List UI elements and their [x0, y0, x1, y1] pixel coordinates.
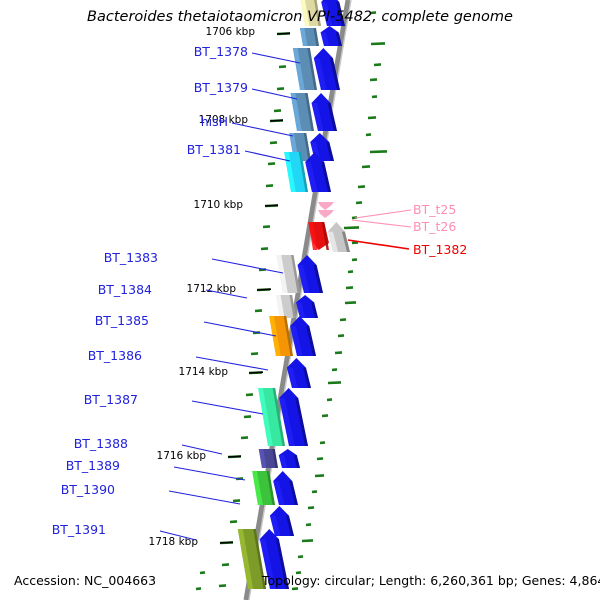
gc-dash — [306, 524, 311, 525]
ruler-tick-mark — [265, 205, 278, 206]
gc-dash — [277, 88, 284, 89]
feature-layer[interactable] — [238, 0, 350, 589]
gc-dash — [196, 588, 201, 589]
gc-dash — [371, 43, 385, 44]
gene-label-bt_t26[interactable]: BT_t26 — [352, 219, 456, 234]
gc-dash — [200, 572, 205, 573]
gc-dash — [261, 248, 268, 249]
gene-label-text[interactable]: BT_1389 — [66, 458, 120, 473]
label-leader-line — [192, 401, 263, 414]
feature-box-1378[interactable] — [293, 48, 317, 90]
feature-arrow-1388[interactable] — [279, 449, 300, 468]
gc-dash — [279, 66, 286, 67]
gene-label-text[interactable]: BT_1387 — [84, 392, 138, 407]
gc-dash — [352, 259, 357, 260]
gc-dash — [255, 310, 262, 311]
accession-text: Accession: NC_004663 — [14, 573, 156, 588]
label-leader-line — [232, 123, 293, 136]
ruler-tick-mark — [277, 33, 290, 34]
gc-dash — [327, 399, 332, 400]
gc-dash — [219, 585, 226, 586]
label-leader-line — [252, 53, 300, 63]
label-leader-line — [169, 491, 240, 504]
gc-dash — [251, 353, 258, 354]
gc-dash — [346, 287, 353, 288]
gene-label-bt_1389[interactable]: BT_1389 — [66, 458, 245, 480]
gc-dash — [345, 302, 356, 303]
feature-trna-t25[interactable] — [318, 202, 334, 210]
gene-label-text[interactable]: BT_1385 — [95, 313, 149, 328]
gc-dash — [370, 151, 387, 152]
feature-box-1385[interactable] — [269, 316, 293, 356]
gene-label-bt_1382[interactable]: BT_1382 — [348, 240, 467, 257]
gc-dash — [312, 491, 317, 492]
gene-label-bt_1387[interactable]: BT_1387 — [84, 392, 263, 414]
feature-box-1388[interactable] — [259, 449, 278, 468]
gc-dash — [372, 96, 377, 97]
feature-trna-t26[interactable] — [318, 210, 334, 218]
label-leader-line — [252, 89, 297, 99]
label-leader-line — [212, 259, 283, 273]
ruler-tick-label: 1706 kbp — [206, 26, 256, 38]
gene-label-bt_1385[interactable]: BT_1385 — [95, 313, 276, 336]
feature-arrow-1389[interactable] — [273, 471, 298, 505]
gc-dash — [320, 442, 325, 443]
label-leader-line — [348, 240, 409, 249]
gene-label-bt_1383[interactable]: BT_1383 — [104, 250, 283, 273]
ruler-tick-mark — [228, 456, 241, 457]
gene-label-text[interactable]: BT_1381 — [187, 142, 241, 157]
gc-dash — [308, 507, 314, 508]
label-leader-line — [204, 322, 276, 336]
gene-label-bt_1390[interactable]: BT_1390 — [61, 482, 240, 504]
gc-dash — [332, 369, 337, 370]
gc-dash — [374, 64, 381, 65]
gc-dash — [335, 352, 342, 353]
feature-box-1382[interactable] — [308, 222, 329, 250]
ruler-tick-mark — [220, 542, 233, 543]
gene-label-text[interactable]: BT_1390 — [61, 482, 115, 497]
gene-label-bt_1381[interactable]: BT_1381 — [187, 142, 290, 161]
gc-dash — [244, 416, 251, 417]
gene-label-text[interactable]: BT_1388 — [74, 436, 128, 451]
genome-stats-text: Topology: circular; Length: 6,260,361 bp… — [261, 573, 600, 588]
gc-dash — [302, 540, 313, 541]
feature-arrow-1386[interactable] — [287, 358, 311, 388]
gc-dash — [266, 185, 273, 186]
gc-dash — [358, 186, 365, 187]
gc-dash — [246, 394, 253, 395]
genome-map-viewer[interactable]: 1706 kbp1708 kbp1710 kbp1712 kbp1714 kbp… — [0, 0, 600, 600]
feature-box-1383[interactable] — [277, 255, 300, 293]
feature-box-1389[interactable] — [252, 471, 275, 505]
feature-box-1384[interactable] — [276, 295, 296, 318]
gene-label-text[interactable]: BT_1379 — [194, 80, 248, 95]
gc-dash — [263, 226, 270, 227]
ruler-tick-mark — [257, 289, 271, 290]
ruler-tick-label: 1712 kbp — [187, 283, 237, 295]
gene-label-text[interactable]: BT_1378 — [194, 44, 248, 59]
label-leader-line — [355, 210, 411, 218]
gc-dash — [315, 475, 324, 476]
page-title: Bacteroides thetaiotaomicron VPI-5482, c… — [87, 9, 513, 25]
feature-arrow-1382[interactable] — [328, 222, 350, 252]
gene-label-bt_1378[interactable]: BT_1378 — [194, 44, 300, 63]
gc-dash — [233, 500, 240, 501]
gc-dash — [362, 166, 370, 167]
feature-box-1377[interactable] — [300, 28, 319, 46]
gc-dash — [270, 142, 277, 143]
ruler-tick-label: 1710 kbp — [194, 199, 244, 211]
gene-label-text[interactable]: BT_t26 — [413, 219, 456, 234]
gc-dash — [368, 117, 376, 118]
ruler-tick-label: 1714 kbp — [179, 366, 229, 378]
gc-dash — [292, 588, 298, 589]
gc-dash — [241, 437, 248, 438]
gc-dash — [298, 556, 303, 557]
gene-label-text[interactable]: BT_1383 — [104, 250, 158, 265]
gene-label-text[interactable]: BT_1382 — [413, 242, 467, 257]
gc-dash — [370, 79, 377, 80]
feature-arrow-1385[interactable] — [290, 316, 316, 356]
ruler-tick-0: 1706 kbp — [206, 26, 290, 38]
gc-dash — [268, 163, 275, 164]
gene-label-text[interactable]: BT_1384 — [98, 282, 152, 297]
gene-label-layer[interactable]: BT_1378BT_1379hisHBT_1381BT_t25BT_t26BT_… — [52, 44, 468, 540]
label-leader-line — [174, 467, 245, 480]
feature-arrow-1390[interactable] — [270, 506, 294, 536]
gene-label-text[interactable]: hisH — [201, 114, 228, 129]
gene-label-text[interactable]: BT_1386 — [88, 348, 142, 363]
gc-dash — [366, 134, 371, 135]
gc-dash — [348, 271, 353, 272]
gc-dash — [356, 202, 362, 203]
gc-dash — [344, 227, 359, 228]
gc-dash — [340, 319, 346, 320]
ruler-tick-mark — [249, 372, 263, 373]
gc-dash — [274, 110, 281, 111]
gc-dash — [328, 382, 341, 383]
gc-dash — [222, 564, 229, 565]
gc-dash-group-far-left — [196, 572, 205, 589]
gene-label-bt_t25[interactable]: BT_t25 — [355, 202, 456, 218]
gc-dash — [352, 242, 358, 243]
feature-arrow-1377[interactable] — [321, 26, 342, 46]
gc-dash — [230, 521, 237, 522]
gc-dash — [317, 458, 323, 459]
ruler-tick-label: 1718 kbp — [149, 536, 199, 548]
ruler-tick-label: 1716 kbp — [157, 450, 207, 462]
gc-dash — [338, 335, 344, 336]
label-leader-line — [245, 151, 290, 161]
gene-label-text[interactable]: BT_t25 — [413, 202, 456, 217]
ruler-tick-mark — [270, 120, 283, 121]
gc-dash — [322, 415, 328, 416]
label-leader-line — [352, 220, 411, 227]
genome-map-canvas[interactable]: 1706 kbp1708 kbp1710 kbp1712 kbp1714 kbp… — [0, 0, 600, 600]
gene-label-text[interactable]: BT_1391 — [52, 522, 106, 537]
